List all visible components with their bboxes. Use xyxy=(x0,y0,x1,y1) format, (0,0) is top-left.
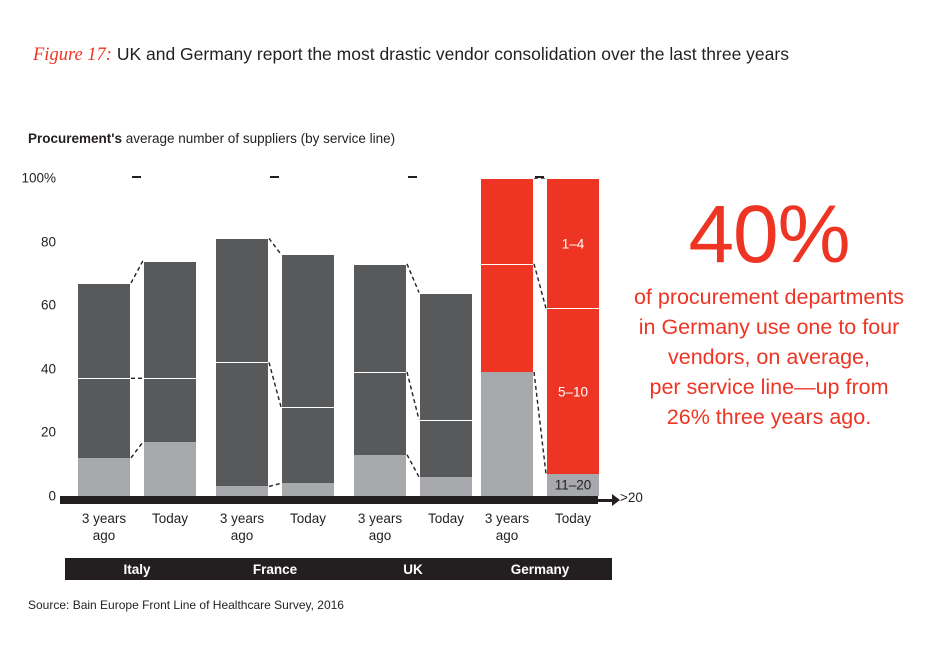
bar-segment-1-4[interactable] xyxy=(216,238,268,362)
bar-uk-3-years-ago[interactable] xyxy=(354,178,406,496)
y-tick-40: 40 xyxy=(41,361,56,376)
bar-segment-1-4[interactable] xyxy=(481,178,533,264)
bar-segment-1-4[interactable]: 1–4 xyxy=(547,178,599,308)
plot-area: 11–205–101–4 xyxy=(60,178,608,496)
bar-segment-11-20[interactable] xyxy=(282,483,334,496)
bar-france-today[interactable] xyxy=(282,178,334,496)
top-tick-mark xyxy=(535,176,544,178)
callout-line-5: 26% three years ago. xyxy=(604,402,934,432)
y-axis: 020406080100% xyxy=(0,178,56,496)
bar-segment-11-20[interactable]: 11–20 xyxy=(547,474,599,496)
callout-headline: 40% xyxy=(604,192,934,278)
bar-italy-3-years-ago[interactable] xyxy=(78,178,130,496)
figure-number: Figure 17: xyxy=(33,45,112,65)
source-note: Source: Bain Europe Front Line of Health… xyxy=(28,598,344,612)
country-label-uk: UK xyxy=(341,558,485,580)
bar-segment-5-10[interactable] xyxy=(216,362,268,486)
bar-segment-5-10[interactable] xyxy=(144,378,196,442)
bar-france-3-years-ago[interactable] xyxy=(216,178,268,496)
bar-segment-5-10[interactable] xyxy=(481,264,533,372)
figure-title: Figure 17: UK and Germany report the mos… xyxy=(33,44,923,66)
y-tick-80: 80 xyxy=(41,234,56,249)
bar-segment-11-20[interactable] xyxy=(420,477,472,496)
x-label-line-2: ago xyxy=(199,527,285,544)
bar-group-italy xyxy=(78,178,196,496)
y-tick-60: 60 xyxy=(41,298,56,313)
y-tick-20: 20 xyxy=(41,425,56,440)
segment-label: 1–4 xyxy=(547,236,599,251)
bar-segment-5-10[interactable]: 5–10 xyxy=(547,308,599,473)
bar-segment-1-4[interactable] xyxy=(282,254,334,407)
bar-segment-5-10[interactable] xyxy=(354,372,406,455)
figure-title-text: UK and Germany report the most drastic v… xyxy=(117,44,789,64)
country-label-italy: Italy xyxy=(65,558,209,580)
bar-segment-5-10[interactable] xyxy=(282,407,334,483)
y-tick-100: 100% xyxy=(21,171,56,186)
bar-segment-1-4[interactable] xyxy=(354,264,406,372)
bar-segment-11-20[interactable] xyxy=(78,458,130,496)
x-axis-end-label: >20 xyxy=(620,490,643,505)
bar-segment-5-10[interactable] xyxy=(420,420,472,477)
bar-uk-today[interactable] xyxy=(420,178,472,496)
x-axis-arrow-head-icon xyxy=(612,494,620,506)
country-label-france: France xyxy=(203,558,347,580)
bar-italy-today[interactable] xyxy=(144,178,196,496)
bar-segment-11-20[interactable] xyxy=(481,372,533,496)
bar-segment-1-4[interactable] xyxy=(420,293,472,420)
bar-group-uk xyxy=(354,178,472,496)
callout-line-4: per service line—up from xyxy=(604,372,934,402)
bar-group-germany: 11–205–101–4 xyxy=(481,178,599,496)
x-label-germany-today: Today xyxy=(530,510,616,527)
bar-group-france xyxy=(216,178,334,496)
bar-germany-3-years-ago[interactable] xyxy=(481,178,533,496)
bar-segment-5-10[interactable] xyxy=(78,378,130,458)
x-label-line-2: ago xyxy=(337,527,423,544)
bar-segment-11-20[interactable] xyxy=(144,442,196,496)
chart-subtitle-bold: Procurement's xyxy=(28,131,122,146)
top-tick-mark xyxy=(270,176,279,178)
bar-segment-11-20[interactable] xyxy=(216,486,268,496)
callout-line-3: vendors, on average, xyxy=(604,342,934,372)
x-axis-baseline xyxy=(60,496,598,504)
x-label-line-2: ago xyxy=(61,527,147,544)
chart-subtitle-rest: average number of suppliers (by service … xyxy=(122,131,395,146)
bar-segment-1-4[interactable] xyxy=(144,261,196,379)
bar-germany-today[interactable]: 11–205–101–4 xyxy=(547,178,599,496)
bar-segment-1-4[interactable] xyxy=(78,283,130,378)
callout-block: 40% of procurement departments in German… xyxy=(604,192,934,432)
x-label-line-2: ago xyxy=(464,527,550,544)
x-label-line-1: Today xyxy=(530,510,616,527)
segment-label: 5–10 xyxy=(547,384,599,399)
callout-line-2: in Germany use one to four xyxy=(604,312,934,342)
top-tick-mark xyxy=(132,176,141,178)
bar-segment-11-20[interactable] xyxy=(354,455,406,496)
y-tick-0: 0 xyxy=(48,489,56,504)
top-tick-mark xyxy=(408,176,417,178)
chart-subtitle: Procurement's average number of supplier… xyxy=(28,131,395,146)
segment-label: 11–20 xyxy=(547,477,599,492)
callout-line-1: of procurement departments xyxy=(604,282,934,312)
country-label-germany: Germany xyxy=(468,558,612,580)
